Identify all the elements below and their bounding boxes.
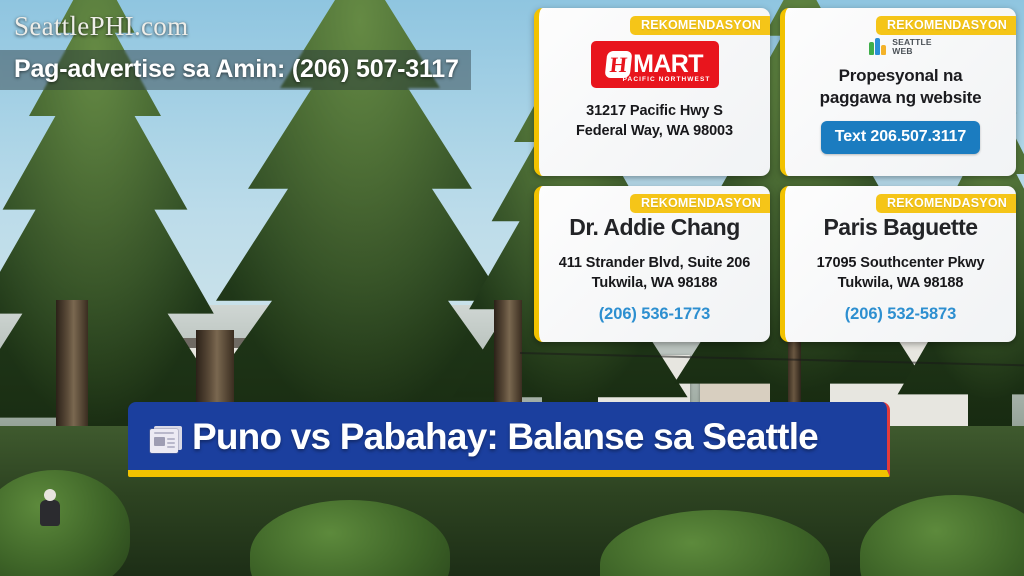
ad-card-paris-baguette[interactable]: REKOMENDASYON Paris Baguette 17095 South… xyxy=(780,186,1016,342)
address-line-2: Tukwila, WA 98188 xyxy=(559,273,750,293)
ad-card-dr-addie-chang[interactable]: REKOMENDASYON Dr. Addie Chang 411 Strand… xyxy=(534,186,770,342)
recommendation-badge: REKOMENDASYON xyxy=(630,16,770,35)
badge-row: REKOMENDASYON xyxy=(539,16,770,35)
business-address: 411 Strander Blvd, Suite 206 Tukwila, WA… xyxy=(559,253,750,293)
address-line-2: Tukwila, WA 98188 xyxy=(817,273,985,293)
site-name: SeattlePHI.com xyxy=(0,10,560,44)
address-line-1: 411 Strander Blvd, Suite 206 xyxy=(559,253,750,273)
address-line-1: 31217 Pacific Hwy S xyxy=(576,101,733,121)
card-body: Paris Baguette 17095 Southcenter Pkwy Tu… xyxy=(795,213,1006,324)
hmart-wordmark: MART xyxy=(633,52,703,77)
business-phone[interactable]: (206) 536-1773 xyxy=(599,305,710,324)
seattle-web-pitch: Propesyonal na paggawa ng website xyxy=(820,65,982,109)
hmart-logo: H MART PACIFIC NORTHWEST xyxy=(591,41,719,88)
pedestrian-head xyxy=(44,489,56,501)
ad-card-hmart[interactable]: REKOMENDASYON H MART PACIFIC NORTHWEST 3… xyxy=(534,8,770,176)
headline-row: Puno vs Pabahay: Balanse sa Seattle xyxy=(150,416,867,458)
newspaper-icon xyxy=(150,426,182,453)
headline-title: Puno vs Pabahay: Balanse sa Seattle xyxy=(192,416,818,457)
badge-row: REKOMENDASYON xyxy=(539,194,770,213)
seattle-web-mark-icon xyxy=(869,38,888,55)
recommendation-badge: REKOMENDASYON xyxy=(630,194,770,213)
card-body: SEATTLE WEB Propesyonal na paggawa ng we… xyxy=(795,35,1006,154)
card-body: Dr. Addie Chang 411 Strander Blvd, Suite… xyxy=(549,213,760,324)
hmart-h-letter: H xyxy=(605,51,633,78)
address-line-1: 17095 Southcenter Pkwy xyxy=(817,253,985,273)
business-phone[interactable]: (206) 532-5873 xyxy=(845,305,956,324)
badge-row: REKOMENDASYON xyxy=(785,16,1016,35)
card-body: H MART PACIFIC NORTHWEST 31217 Pacific H… xyxy=(549,35,760,141)
brand-block: SeattlePHI.com Pag-advertise sa Amin: (2… xyxy=(0,10,560,90)
hmart-address: 31217 Pacific Hwy S Federal Way, WA 9800… xyxy=(576,101,733,141)
business-address: 17095 Southcenter Pkwy Tukwila, WA 98188 xyxy=(817,253,985,293)
recommendation-badge: REKOMENDASYON xyxy=(876,16,1016,35)
text-us-button[interactable]: Text 206.507.3117 xyxy=(821,121,980,154)
pedestrian xyxy=(40,500,60,526)
recommendation-badge: REKOMENDASYON xyxy=(876,194,1016,213)
ad-card-grid: REKOMENDASYON H MART PACIFIC NORTHWEST 3… xyxy=(534,8,1016,342)
seattle-web-line-2: WEB xyxy=(892,47,932,56)
badge-row: REKOMENDASYON xyxy=(785,194,1016,213)
ad-card-seattle-web[interactable]: REKOMENDASYON SEATTLE WEB Propesyonal na… xyxy=(780,8,1016,176)
seattle-web-wordmark: SEATTLE WEB xyxy=(892,38,932,55)
seattle-web-logo: SEATTLE WEB xyxy=(869,38,932,55)
headline-banner: Puno vs Pabahay: Balanse sa Seattle xyxy=(128,402,890,477)
address-line-2: Federal Way, WA 98003 xyxy=(576,121,733,141)
pitch-line-2: paggawa ng website xyxy=(820,87,982,109)
pitch-line-1: Propesyonal na xyxy=(820,65,982,87)
advertise-banner: Pag-advertise sa Amin: (206) 507-3117 xyxy=(0,50,471,90)
business-name: Dr. Addie Chang xyxy=(569,215,740,240)
hmart-tagline: PACIFIC NORTHWEST xyxy=(623,76,711,83)
advertise-text: Pag-advertise sa Amin: (206) 507-3117 xyxy=(14,55,459,84)
hmart-logo-inner: H MART xyxy=(606,51,703,78)
business-name: Paris Baguette xyxy=(823,215,977,240)
